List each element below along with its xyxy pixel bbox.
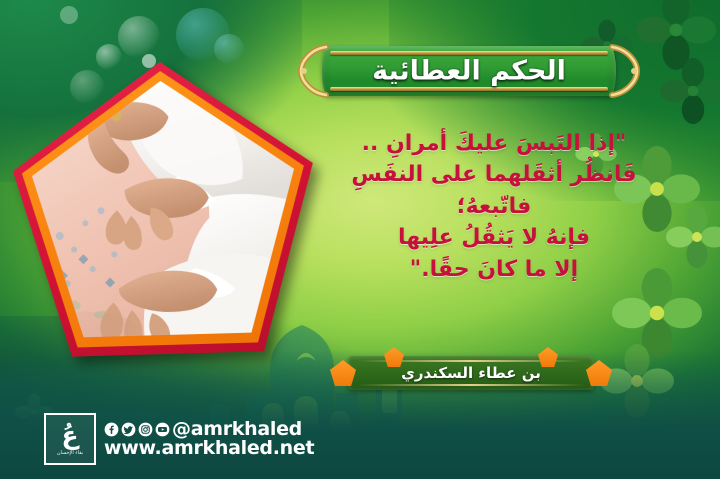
quote-line: فَانظُر أثقَلهما على النفَسِ	[292, 159, 696, 190]
brand-logo-glyph: عُ	[61, 423, 78, 448]
quote-line: إلا ما كانَ حقًا."	[292, 254, 696, 285]
attribution-banner: بن عطاء السكندري	[330, 356, 612, 390]
footer-text-block: @amrkhaled www.amrkhaled.net	[104, 420, 314, 459]
brand-logo-subtitle: بقاء الإحسان	[57, 450, 83, 456]
quote-line: "إذا التَبسَ عليكَ أمرانِ ..	[292, 128, 696, 159]
quote-line: فاتّبعهُ؛	[292, 191, 696, 222]
poster-canvas: الحكم العطائية "إذا التَبسَ عليكَ أمرانِ…	[0, 0, 720, 479]
photo-frame	[10, 58, 318, 358]
brand-logo: عُ بقاء الإحسان	[44, 413, 96, 465]
title-banner: الحكم العطائية	[296, 44, 642, 98]
poster-title: الحكم العطائية	[296, 56, 642, 87]
twitter-icon[interactable]	[121, 422, 136, 437]
instagram-icon[interactable]	[138, 422, 153, 437]
title-banner-rule-bottom	[330, 87, 608, 91]
footer-branding: عُ بقاء الإحسان	[44, 413, 314, 465]
facebook-icon[interactable]	[104, 422, 119, 437]
youtube-icon[interactable]	[155, 422, 170, 437]
title-banner-rule-top	[330, 51, 608, 55]
quote-text: "إذا التَبسَ عليكَ أمرانِ .. فَانظُر أثق…	[292, 128, 696, 285]
quote-line: فإنهُ لا يَثقُلُ علِيها	[292, 222, 696, 253]
attribution-author: بن عطاء السكندري	[330, 364, 612, 382]
website-url[interactable]: www.amrkhaled.net	[104, 439, 314, 458]
